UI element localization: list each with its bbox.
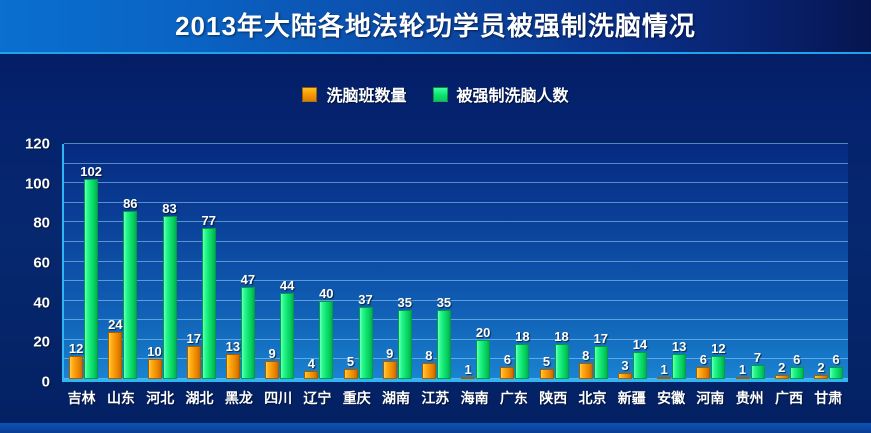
x-axis-label: 广东 (494, 388, 533, 416)
bar[interactable]: 2 (775, 375, 789, 379)
bar[interactable]: 24 (108, 332, 122, 379)
bar[interactable]: 86 (123, 211, 137, 379)
bar-value-label: 20 (476, 326, 490, 339)
bottom-strip (0, 423, 871, 433)
bar[interactable]: 1 (657, 377, 671, 379)
y-axis-tick: 0 (42, 374, 50, 391)
x-axis-label: 河南 (691, 388, 730, 416)
bar-value-label: 8 (582, 349, 589, 362)
bar-value-label: 86 (123, 197, 137, 210)
orange-square-icon (302, 87, 317, 102)
bar-value-label: 6 (504, 353, 511, 366)
bar[interactable]: 9 (383, 361, 397, 379)
bar-value-label: 8 (425, 349, 432, 362)
bar[interactable]: 20 (476, 340, 490, 379)
x-axis-label: 河北 (141, 388, 180, 416)
bar[interactable]: 4 (304, 371, 318, 379)
y-axis-tick: 40 (33, 294, 50, 311)
x-axis-label: 湖南 (376, 388, 415, 416)
bar-group: 26 (809, 144, 848, 379)
bar-value-label: 14 (633, 338, 647, 351)
bar-group: 944 (260, 144, 299, 379)
legend-item-sessions[interactable]: 洗脑班数量 (302, 82, 406, 106)
bar[interactable]: 2 (814, 375, 828, 379)
bar[interactable]: 6 (696, 367, 710, 379)
bar-value-label: 5 (347, 355, 354, 368)
bar[interactable]: 18 (515, 344, 529, 379)
bar-value-label: 35 (437, 296, 451, 309)
bar-value-label: 1 (465, 363, 472, 376)
bar-value-label: 13 (226, 340, 240, 353)
bar[interactable]: 6 (790, 367, 804, 379)
bar-group: 817 (574, 144, 613, 379)
bar-group: 835 (417, 144, 456, 379)
bar[interactable]: 1 (736, 377, 750, 379)
bar-value-label: 9 (386, 347, 393, 360)
bar-group: 518 (534, 144, 573, 379)
bar-groups: 1210224861083177713479444405379358351206… (64, 144, 848, 379)
bar-group: 935 (378, 144, 417, 379)
bar[interactable]: 9 (265, 361, 279, 379)
bar-group: 113 (652, 144, 691, 379)
bar-group: 440 (299, 144, 338, 379)
x-axis-label: 四川 (258, 388, 297, 416)
bar[interactable]: 13 (672, 354, 686, 379)
bar[interactable]: 17 (594, 346, 608, 379)
green-square-icon (433, 87, 448, 102)
y-axis-tick: 100 (25, 175, 50, 192)
bar-value-label: 10 (147, 345, 161, 358)
x-axis-label: 黑龙 (219, 388, 258, 416)
x-axis-label: 贵州 (730, 388, 769, 416)
bar-value-label: 18 (515, 330, 529, 343)
bar[interactable]: 3 (618, 373, 632, 379)
bar-value-label: 1 (739, 363, 746, 376)
bar[interactable]: 102 (84, 179, 98, 379)
x-axis-label: 新疆 (612, 388, 651, 416)
bar-value-label: 2 (817, 361, 824, 374)
x-axis-label: 辽宁 (298, 388, 337, 416)
bar[interactable]: 12 (711, 356, 725, 380)
y-axis-tick: 20 (33, 334, 50, 351)
bar-value-label: 44 (280, 279, 294, 292)
y-axis-tick: 80 (33, 215, 50, 232)
x-axis-label: 江苏 (416, 388, 455, 416)
x-axis-label: 陕西 (534, 388, 573, 416)
x-axis-label: 山东 (101, 388, 140, 416)
bar-value-label: 5 (543, 355, 550, 368)
bar-value-label: 17 (186, 332, 200, 345)
bar-value-label: 12 (69, 342, 83, 355)
x-axis-labels: 吉林山东河北湖北黑龙四川辽宁重庆湖南江苏海南广东陕西北京新疆安徽河南贵州广西甘肃 (62, 388, 848, 416)
bar[interactable]: 40 (319, 301, 333, 379)
bar[interactable]: 35 (398, 310, 412, 379)
y-axis-tick: 60 (33, 255, 50, 272)
bar-group: 618 (495, 144, 534, 379)
bar[interactable]: 7 (751, 365, 765, 379)
x-axis-label: 安徽 (651, 388, 690, 416)
x-axis-label: 吉林 (62, 388, 101, 416)
bar-value-label: 102 (80, 165, 102, 178)
bar-value-label: 12 (711, 342, 725, 355)
bar-value-label: 40 (319, 287, 333, 300)
page-title: 2013年大陆各地法轮功学员被强制洗脑情况 (0, 6, 871, 43)
bar-value-label: 1 (661, 363, 668, 376)
x-axis-label: 广西 (769, 388, 808, 416)
bar-value-label: 7 (754, 351, 761, 364)
bar[interactable]: 5 (540, 369, 554, 379)
bar-group: 12102 (64, 144, 103, 379)
y-axis: 020406080100120 (0, 144, 56, 382)
bar-group: 2486 (103, 144, 142, 379)
x-axis-label: 重庆 (337, 388, 376, 416)
bar[interactable]: 8 (579, 363, 593, 379)
legend-label: 被强制洗脑人数 (457, 82, 569, 106)
bar-value-label: 13 (672, 340, 686, 353)
bar[interactable]: 37 (359, 307, 373, 379)
bar-value-label: 35 (397, 296, 411, 309)
bar-value-label: 6 (832, 353, 839, 366)
bar[interactable]: 8 (422, 363, 436, 379)
bar[interactable]: 6 (829, 367, 843, 379)
legend-label: 洗脑班数量 (326, 82, 406, 106)
chart-plot-area: 1210224861083177713479444405379358351206… (62, 144, 848, 382)
bar-group: 26 (770, 144, 809, 379)
bar[interactable]: 13 (226, 354, 240, 379)
bar-value-label: 6 (700, 353, 707, 366)
x-axis-label: 北京 (573, 388, 612, 416)
bar[interactable]: 17 (187, 346, 201, 379)
chart-legend: 洗脑班数量被强制洗脑人数 (0, 82, 871, 106)
bar[interactable]: 44 (280, 293, 294, 379)
x-axis-label: 湖北 (180, 388, 219, 416)
bar[interactable]: 1 (461, 377, 475, 379)
bar-value-label: 6 (793, 353, 800, 366)
bar-group: 1083 (142, 144, 181, 379)
bar-value-label: 3 (621, 359, 628, 372)
bar-group: 17 (730, 144, 769, 379)
bar-value-label: 47 (241, 273, 255, 286)
bar[interactable]: 5 (344, 369, 358, 379)
y-axis-tick: 120 (25, 136, 50, 153)
bar-value-label: 77 (201, 214, 215, 227)
bar-value-label: 9 (268, 347, 275, 360)
bar-value-label: 24 (108, 318, 122, 331)
legend-item-people[interactable]: 被强制洗脑人数 (433, 82, 569, 106)
bar-group: 1347 (221, 144, 260, 379)
bar-value-label: 2 (778, 361, 785, 374)
bar-group: 612 (691, 144, 730, 379)
bar-value-label: 37 (358, 293, 372, 306)
bar[interactable]: 77 (202, 228, 216, 379)
bar[interactable]: 10 (148, 359, 162, 379)
bar-group: 120 (456, 144, 495, 379)
bar-value-label: 83 (162, 202, 176, 215)
bar[interactable]: 35 (437, 310, 451, 379)
x-axis-label: 海南 (455, 388, 494, 416)
bar[interactable]: 14 (633, 352, 647, 379)
bar-value-label: 4 (308, 357, 315, 370)
bar-group: 314 (613, 144, 652, 379)
x-axis-label: 甘肃 (809, 388, 848, 416)
bar[interactable]: 83 (163, 216, 177, 379)
bar[interactable]: 6 (500, 367, 514, 379)
title-bar: 2013年大陆各地法轮功学员被强制洗脑情况 (0, 0, 871, 54)
bar-value-label: 17 (594, 332, 608, 345)
bar[interactable]: 47 (241, 287, 255, 379)
bar-group: 537 (338, 144, 377, 379)
bar[interactable]: 12 (69, 356, 83, 380)
bar[interactable]: 18 (555, 344, 569, 379)
bar-value-label: 18 (554, 330, 568, 343)
bar-group: 1777 (182, 144, 221, 379)
